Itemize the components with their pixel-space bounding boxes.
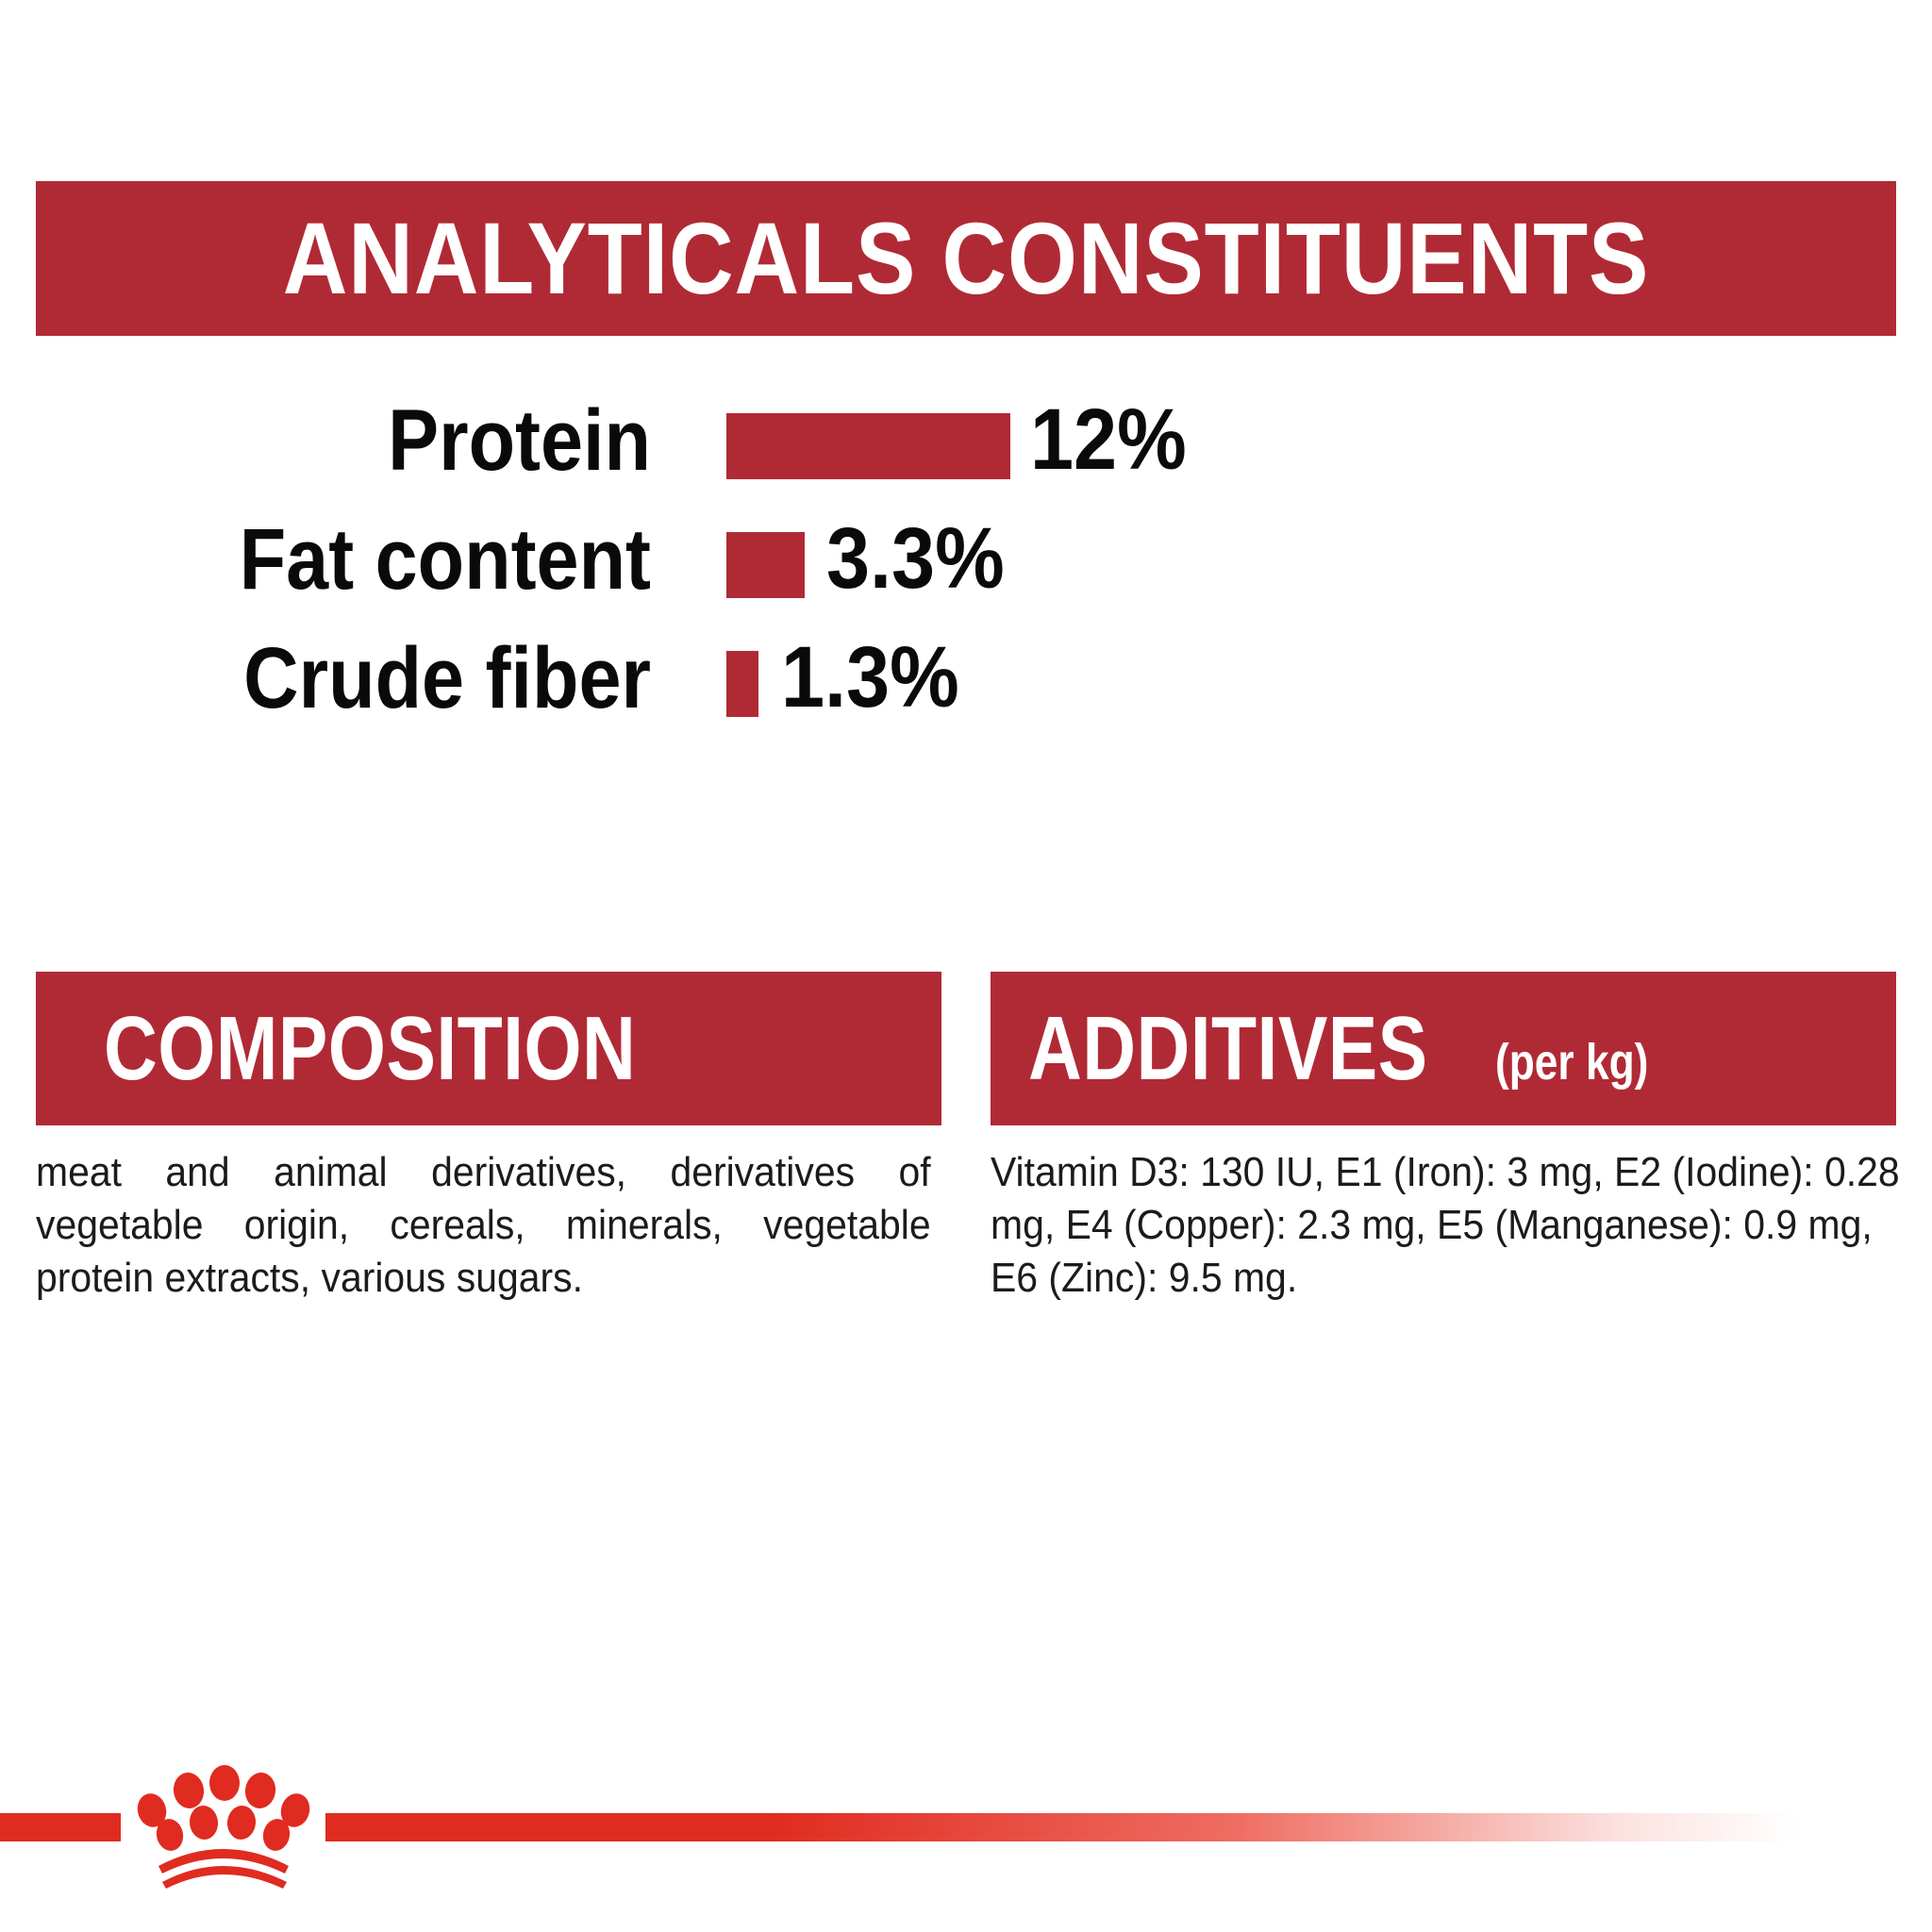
analyticals-heading: ANALYTICALS CONSTITUENTS <box>283 208 1650 309</box>
additives-text: Vitamin D3: 130 IU, E1 (Iron): 3 mg, E2 … <box>991 1146 1903 1305</box>
footer <box>0 1755 1932 1932</box>
additives-heading: ADDITIVES <box>1028 1004 1428 1094</box>
nutrient-bar-fat-content <box>726 532 805 598</box>
nutrient-row: Fat content 3.3% <box>0 519 1932 638</box>
nutrient-label-protein: Protein <box>70 400 651 481</box>
additives-heading-suffix: (per kg) <box>1495 1033 1648 1091</box>
nutrient-value-crude-fiber: 1.3% <box>781 632 959 723</box>
analyticals-banner: ANALYTICALS CONSTITUENTS <box>36 181 1896 336</box>
footer-rule-left <box>0 1813 121 1841</box>
nutrient-value-protein: 12% <box>1030 394 1187 485</box>
nutrient-row: Crude fiber 1.3% <box>0 638 1932 757</box>
composition-heading: COMPOSITION <box>104 1004 636 1094</box>
nutrient-label-crude-fiber: Crude fiber <box>70 638 651 719</box>
footer-rule-right <box>325 1813 1797 1841</box>
composition-banner: COMPOSITION <box>36 972 941 1125</box>
nutrient-bar-crude-fiber <box>726 651 758 717</box>
nutrient-row: Protein 12% <box>0 400 1932 519</box>
nutrient-value-fat-content: 3.3% <box>826 513 1005 604</box>
nutrient-label-fat-content: Fat content <box>70 519 651 600</box>
nutrition-panel: ANALYTICALS CONSTITUENTS Protein 12% Fat… <box>0 0 1932 1932</box>
composition-text: meat and animal derivatives, derivatives… <box>36 1146 931 1305</box>
nutrient-bar-protein <box>726 413 1010 479</box>
royal-canin-crown-logo <box>130 1757 315 1889</box>
additives-banner: ADDITIVES (per kg) <box>991 972 1896 1125</box>
analyticals-chart: Protein 12% Fat content 3.3% Crude fiber… <box>0 400 1932 757</box>
